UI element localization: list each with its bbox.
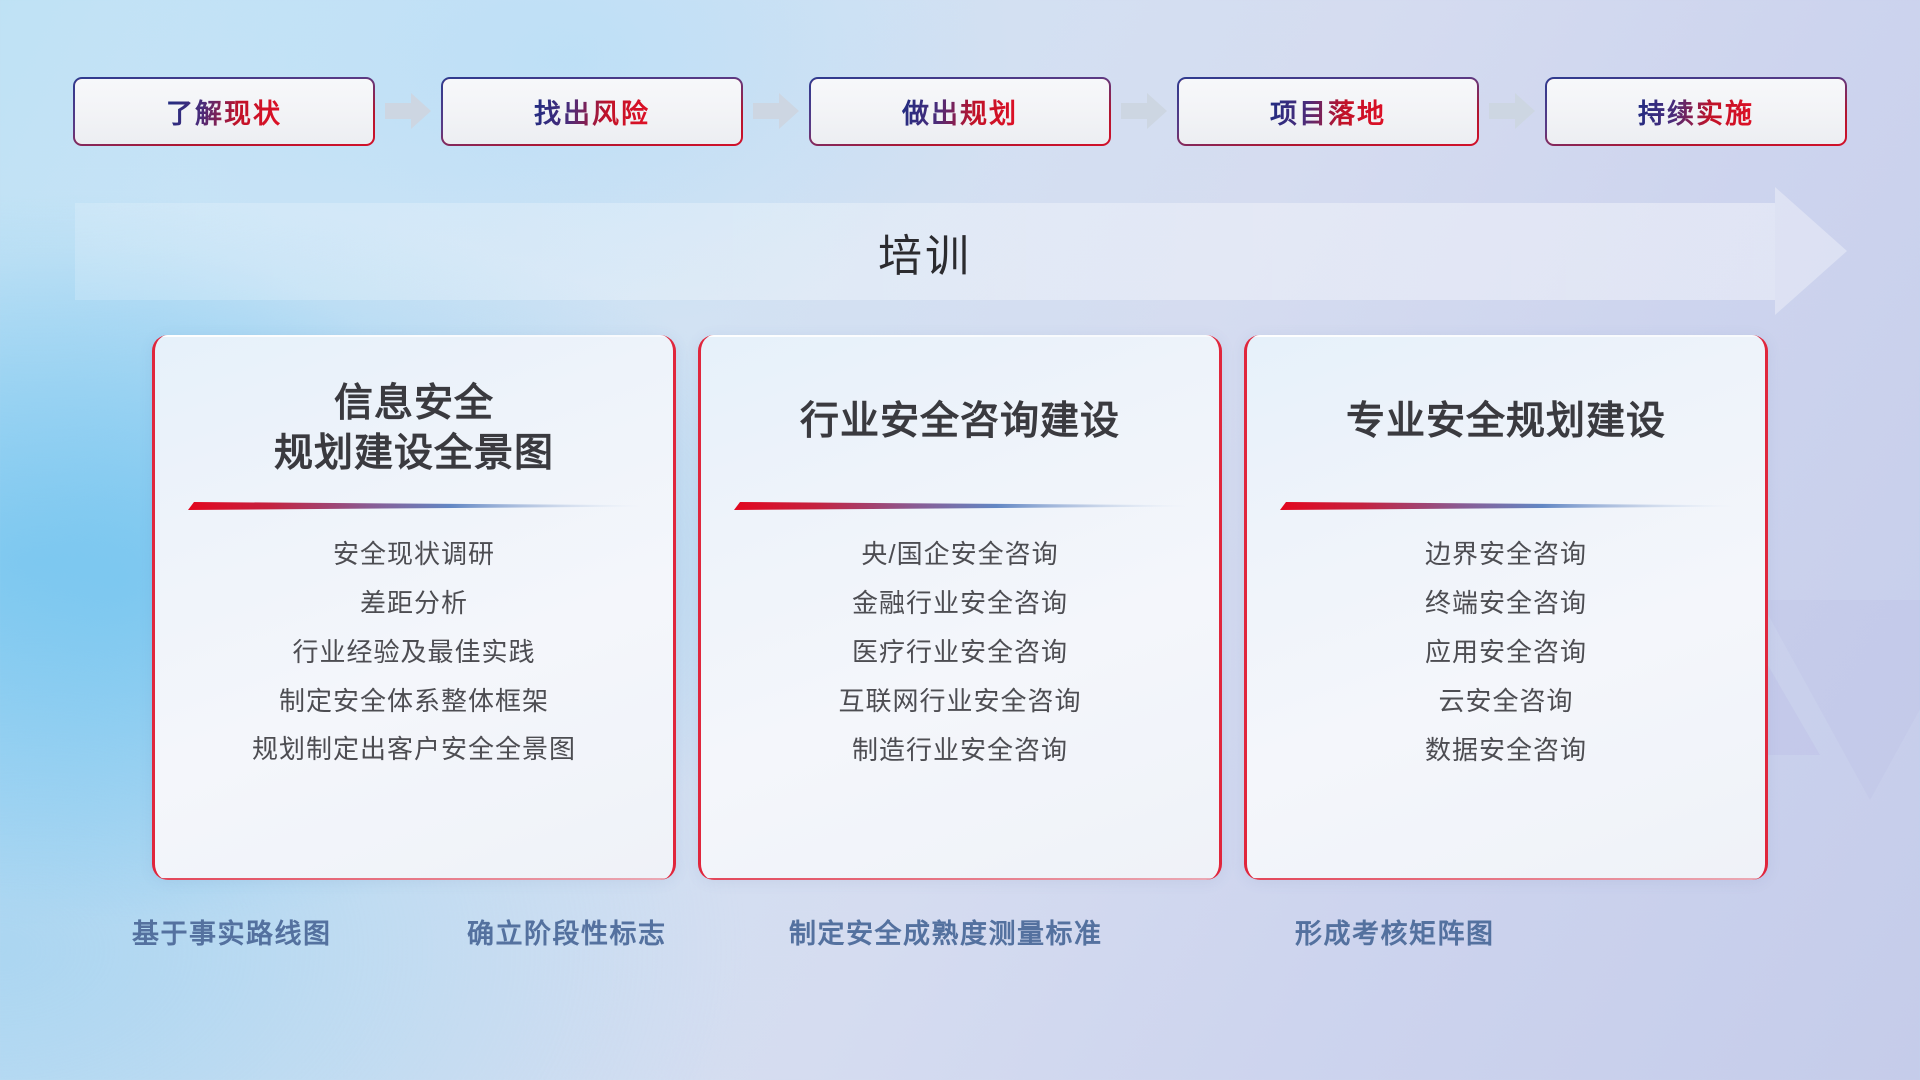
card-2-list: 央/国企安全咨询 金融行业安全咨询 医疗行业安全咨询 互联网行业安全咨询 制造行… (838, 536, 1081, 769)
step-box-4[interactable]: 项目落地 (1177, 77, 1479, 146)
banner-title: 培训 (75, 203, 1775, 300)
list-item: 应用安全咨询 (1425, 634, 1587, 671)
step-label-4: 项目落地 (1270, 92, 1386, 131)
training-banner: 培训 (75, 203, 1847, 300)
card-1[interactable]: 信息安全 规划建设全景图 (152, 335, 676, 880)
card-3-title-line1: 专业安全规划建设 (1346, 397, 1666, 447)
step-box-1[interactable]: 了解现状 (73, 77, 375, 146)
list-item: 终端安全咨询 (1425, 585, 1587, 622)
step-box-3[interactable]: 做出规划 (809, 77, 1111, 146)
step-label-5: 持续实施 (1638, 92, 1754, 131)
card-2[interactable]: 行业安全咨询建设 (698, 335, 1222, 880)
step-label-3: 做出规划 (902, 92, 1018, 131)
step-box-5[interactable]: 持续实施 (1545, 77, 1847, 146)
card-1-divider (188, 499, 640, 512)
card-2-title-line1: 行业安全咨询建设 (800, 397, 1120, 447)
card-1-title: 信息安全 规划建设全景图 (274, 379, 554, 479)
list-item: 央/国企安全咨询 (861, 536, 1058, 573)
banner-arrow-tip-icon (1775, 187, 1847, 315)
list-item: 医疗行业安全咨询 (852, 634, 1068, 671)
card-3[interactable]: 专业安全规划建设 (1244, 335, 1768, 880)
list-item: 边界安全咨询 (1425, 536, 1587, 573)
step-label-1: 了解现状 (166, 92, 282, 131)
list-item: 制定安全体系整体框架 (279, 683, 549, 720)
card-3-title: 专业安全规划建设 (1346, 397, 1666, 447)
step-arrow-icon-4 (1479, 77, 1545, 146)
step-box-2[interactable]: 找出风险 (441, 77, 743, 146)
list-item: 制造行业安全咨询 (852, 732, 1068, 769)
step-arrow-icon-3 (1111, 77, 1177, 146)
caption-row: 基于事实路线图 确立阶段性标志 制定安全成熟度测量标准 形成考核矩阵图 (0, 912, 1920, 972)
list-item: 互联网行业安全咨询 (838, 683, 1081, 720)
process-step-strip: 了解现状 找出风险 做出规划 项目落地 持续实施 (0, 76, 1920, 146)
list-item: 金融行业安全咨询 (852, 585, 1068, 622)
list-item: 数据安全咨询 (1425, 732, 1587, 769)
list-item: 安全现状调研 (333, 536, 495, 573)
card-1-list: 安全现状调研 差距分析 行业经验及最佳实践 制定安全体系整体框架 规划制定出客户… (252, 536, 576, 769)
card-row: 信息安全 规划建设全景图 (0, 335, 1920, 880)
list-item: 差距分析 (360, 585, 468, 622)
caption-4: 形成考核矩阵图 (1295, 912, 1495, 951)
card-1-title-line1: 信息安全 (274, 379, 554, 429)
step-label-2: 找出风险 (534, 92, 650, 131)
caption-2: 确立阶段性标志 (467, 912, 667, 951)
caption-1: 基于事实路线图 (132, 912, 332, 951)
step-arrow-icon-2 (743, 77, 809, 146)
list-item: 规划制定出客户安全全景图 (252, 731, 576, 768)
card-3-list: 边界安全咨询 终端安全咨询 应用安全咨询 云安全咨询 数据安全咨询 (1425, 536, 1587, 769)
step-arrow-icon-1 (375, 77, 441, 146)
list-item: 云安全咨询 (1438, 683, 1573, 720)
list-item: 行业经验及最佳实践 (292, 634, 535, 671)
card-3-divider (1280, 499, 1732, 512)
caption-3: 制定安全成熟度测量标准 (789, 912, 1103, 951)
card-1-title-line2: 规划建设全景图 (274, 429, 554, 479)
card-2-title: 行业安全咨询建设 (800, 397, 1120, 447)
card-2-divider (734, 499, 1186, 512)
